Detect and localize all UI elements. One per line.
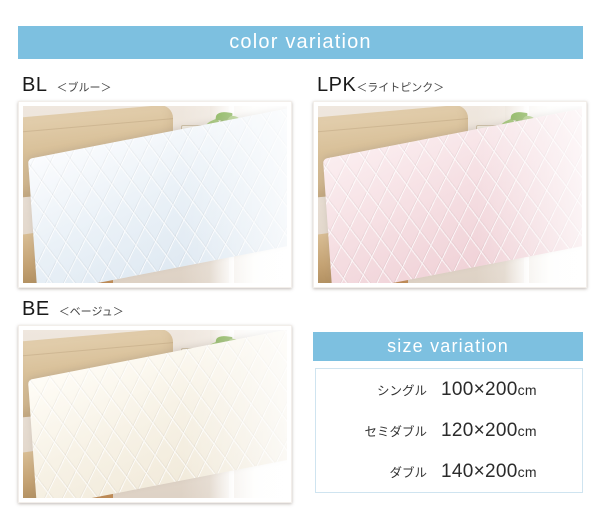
size-dimensions-semidouble-value: 120×200 [441,420,518,441]
size-name-double: ダブル [316,451,441,492]
size-variation-header-text: size variation [387,336,509,357]
size-unit-double: cm [518,464,537,480]
color-code-bl: BL [22,74,47,96]
color-code-lpk: LPK [317,74,356,96]
size-unit-semidouble: cm [518,423,537,439]
table-row: ダブル 140×200cm [316,451,582,492]
color-name-lpk: ＜ライトピンク＞ [356,82,444,94]
color-name-bl: ＜ブルー＞ [56,82,111,94]
color-label-bl: BL＜ブルー＞ [22,74,111,97]
size-name-single: シングル [316,369,441,410]
color-variation-header-text: color variation [229,31,372,54]
bedroom-scene-lpk [318,106,582,283]
bedroom-scene-be [23,330,287,498]
size-variation-box: シングル 100×200cm セミダブル 120×200cm ダブル 140×2… [315,368,583,493]
color-code-be: BE [22,298,50,320]
size-variation-header: size variation [313,332,583,361]
color-variation-header: color variation [18,26,583,59]
color-label-lpk: LPK＜ライトピンク＞ [317,74,444,97]
bedroom-scene-bl [23,106,287,283]
product-photo-lpk[interactable] [313,101,587,288]
table-row: セミダブル 120×200cm [316,410,582,451]
table-row: シングル 100×200cm [316,369,582,410]
product-photo-be[interactable] [18,325,292,503]
color-name-be: ＜ベージュ＞ [59,306,124,318]
size-unit-single: cm [518,382,537,398]
size-table: シングル 100×200cm セミダブル 120×200cm ダブル 140×2… [316,369,582,492]
size-dimensions-double-value: 140×200 [441,461,518,482]
color-label-be: BE＜ベージュ＞ [22,298,124,321]
product-photo-bl[interactable] [18,101,292,288]
size-dimensions-single-value: 100×200 [441,379,518,400]
size-dimensions-double: 140×200cm [441,451,582,492]
size-name-semidouble: セミダブル [316,410,441,451]
size-dimensions-single: 100×200cm [441,369,582,410]
size-dimensions-semidouble: 120×200cm [441,410,582,451]
